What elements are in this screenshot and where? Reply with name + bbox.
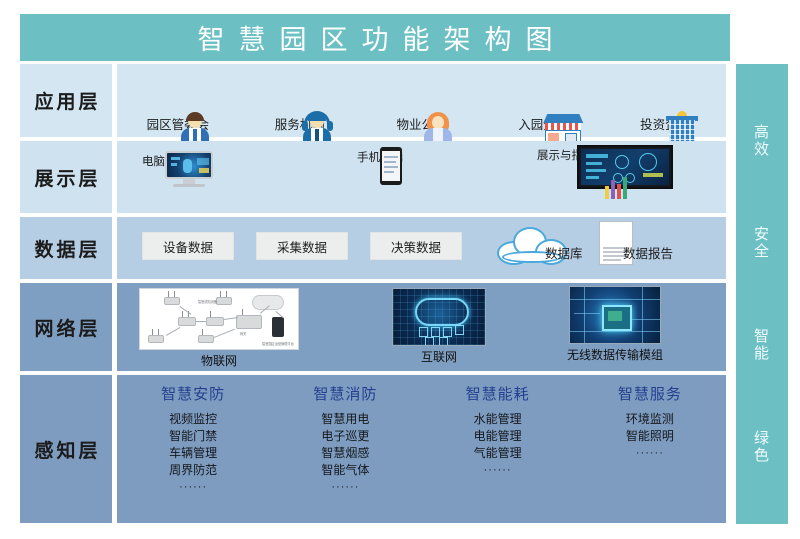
data-chip-decision[interactable]: 决策数据 xyxy=(370,232,462,260)
layer-label-text: 网络层 xyxy=(31,314,100,341)
layer-row-data: 数据层 设备数据 采集数据 决策数据 数据库 xyxy=(20,217,726,279)
perception-group-title: 智慧安防 xyxy=(161,383,225,404)
layer-label-network: 网络层 xyxy=(20,283,112,371)
network-item-label: 无线数据传输模组 xyxy=(567,346,663,363)
architecture-diagram-page: 智慧园区功能架构图 高效 安全 智能 绿色 应用层 xyxy=(0,0,800,539)
app-item-property-company[interactable]: 物业公司 xyxy=(361,112,483,133)
layer-body-perception: 智慧安防 视频监控 智能门禁 车辆管理 周界防范 ······ 智慧消防 智慧用… xyxy=(117,375,726,523)
layer-label-text: 数据层 xyxy=(31,235,100,262)
perception-item-more: ······ xyxy=(179,479,207,495)
keyword-lvse: 绿色 xyxy=(753,430,771,464)
perception-item[interactable]: 车辆管理 xyxy=(169,445,217,462)
perception-item[interactable]: 智能气体 xyxy=(321,462,369,479)
keyword-zhineng: 智能 xyxy=(753,328,771,362)
perception-item-more: ······ xyxy=(331,479,359,495)
data-report-item[interactable]: 数据报告 xyxy=(599,221,709,273)
data-database-label: 数据库 xyxy=(545,243,583,262)
diagram-title-bar: 智慧园区功能架构图 xyxy=(20,14,730,61)
network-item-internet[interactable]: 互联网 xyxy=(392,288,486,365)
iot-topology-diagram: 智慧感知设备 网关 智慧园区运营管理平台 xyxy=(139,288,299,350)
perception-item[interactable]: 视频监控 xyxy=(169,411,217,428)
perception-group-service: 智慧服务 环境监测 智能照明 ······ xyxy=(574,383,726,523)
layer-row-application: 应用层 园区管委会 xyxy=(20,64,726,137)
page-title: 智慧园区功能架构图 xyxy=(184,18,567,57)
perception-item[interactable]: 周界防范 xyxy=(169,462,217,479)
keyword-gaoxiao: 高效 xyxy=(753,124,771,158)
perception-group-security: 智慧安防 视频监控 智能门禁 车辆管理 周界防范 ······ xyxy=(117,383,269,523)
network-item-label: 物联网 xyxy=(201,352,237,369)
layer-label-data: 数据层 xyxy=(20,217,112,279)
layer-label-text: 应用层 xyxy=(31,87,100,114)
app-item-park-committee[interactable]: 园区管委会 xyxy=(117,112,239,133)
data-report-label: 数据报告 xyxy=(623,243,673,262)
app-item-service-agency[interactable]: 服务机构 xyxy=(239,112,361,133)
perception-group-title: 智慧服务 xyxy=(618,383,682,404)
layer-label-application: 应用层 xyxy=(20,64,112,137)
keyword-sidebar: 高效 安全 智能 绿色 xyxy=(736,64,788,524)
perception-item[interactable]: 水能管理 xyxy=(474,411,522,428)
layer-row-network: 网络层 xyxy=(20,283,726,371)
app-item-investor-enterprise[interactable]: 投资企业 xyxy=(604,112,726,133)
internet-cloud-image xyxy=(392,288,486,346)
keyword-anquan: 安全 xyxy=(753,226,771,260)
layer-body-application: 园区管委会 xyxy=(117,64,726,137)
layer-body-data: 设备数据 采集数据 决策数据 数据库 xyxy=(117,217,726,279)
circuit-chip-image xyxy=(569,286,661,344)
network-item-wireless-module[interactable]: 无线数据传输模组 xyxy=(567,286,663,363)
perception-group-firefighting: 智慧消防 智慧用电 电子巡更 智慧烟感 智能气体 ······ xyxy=(269,383,421,523)
perception-item[interactable]: 智慧烟感 xyxy=(321,445,369,462)
display-item-pc-terminal[interactable]: 电脑终端 xyxy=(142,151,188,169)
layer-body-network: 智慧感知设备 网关 智慧园区运营管理平台 物联网 xyxy=(117,283,726,371)
layer-label-text: 展示层 xyxy=(31,164,100,191)
perception-item[interactable]: 智能门禁 xyxy=(169,428,217,445)
perception-item[interactable]: 环境监测 xyxy=(626,411,674,428)
perception-group-energy: 智慧能耗 水能管理 电能管理 气能管理 ······ xyxy=(422,383,574,523)
perception-group-title: 智慧消防 xyxy=(313,383,377,404)
perception-group-title: 智慧能耗 xyxy=(466,383,530,404)
network-item-label: 互联网 xyxy=(421,348,457,365)
display-item-command-center[interactable]: 展示与指挥中心 xyxy=(537,145,618,163)
layer-label-display: 展示层 xyxy=(20,141,112,213)
perception-item-more: ······ xyxy=(484,462,512,478)
data-chip-device[interactable]: 设备数据 xyxy=(142,232,234,260)
network-item-iot[interactable]: 智慧感知设备 网关 智慧园区运营管理平台 物联网 xyxy=(139,288,299,369)
perception-item[interactable]: 智能照明 xyxy=(626,428,674,445)
perception-item[interactable]: 电能管理 xyxy=(474,428,522,445)
layer-label-perception: 感知层 xyxy=(20,375,112,523)
layer-row-display: 展示层 xyxy=(20,141,726,213)
perception-item-more: ······ xyxy=(636,445,664,461)
app-item-resident-enterprise[interactable]: 入园企业 xyxy=(482,112,604,133)
layer-row-perception: 感知层 智慧安防 视频监控 智能门禁 车辆管理 周界防范 ······ 智慧消防… xyxy=(20,375,726,523)
display-item-mobile-terminal[interactable]: 手机终端 xyxy=(357,147,403,165)
layer-body-display: 电脑终端 手机 xyxy=(117,141,726,213)
perception-item[interactable]: 气能管理 xyxy=(474,445,522,462)
perception-item[interactable]: 智慧用电 xyxy=(321,411,369,428)
layer-stack: 应用层 园区管委会 xyxy=(20,64,726,527)
data-chip-collection[interactable]: 采集数据 xyxy=(256,232,348,260)
perception-item[interactable]: 电子巡更 xyxy=(321,428,369,445)
layer-label-text: 感知层 xyxy=(31,436,100,463)
